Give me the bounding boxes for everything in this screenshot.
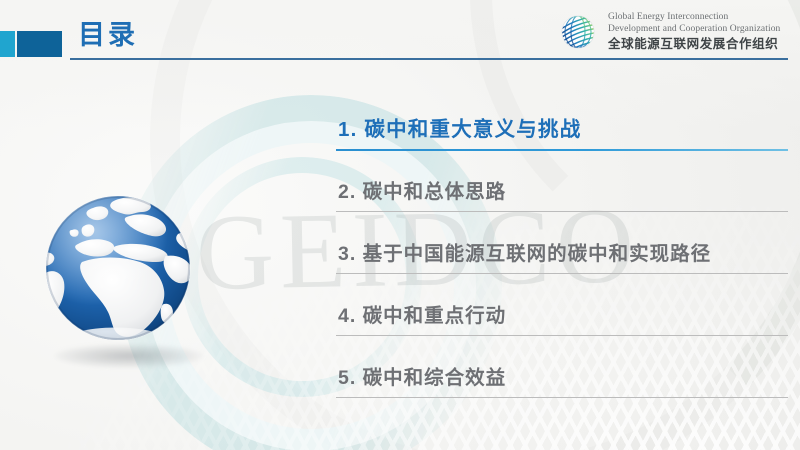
toc-item-4-underline xyxy=(336,335,788,336)
logo-chinese-name: 全球能源互联网发展合作组织 xyxy=(608,37,780,52)
logo-text: Global Energy Interconnection Developmen… xyxy=(608,12,780,51)
toc-item-5-label: 5. 碳中和综合效益 xyxy=(338,361,506,390)
organization-logo: Global Energy Interconnection Developmen… xyxy=(556,9,794,55)
toc-item-1[interactable]: 1. 碳中和重大意义与挑战 xyxy=(336,92,788,154)
logo-english-line-2: Development and Cooperation Organization xyxy=(608,24,780,35)
toc-item-2[interactable]: 2. 碳中和总体思路 xyxy=(336,154,788,216)
toc-item-4-label: 4. 碳中和重点行动 xyxy=(338,299,506,328)
toc-item-3[interactable]: 3. 基于中国能源互联网的碳中和实现路径 xyxy=(336,216,788,278)
geidco-globe-logo-icon xyxy=(556,10,600,54)
toc-item-4[interactable]: 4. 碳中和重点行动 xyxy=(336,278,788,340)
toc-item-3-label: 3. 基于中国能源互联网的碳中和实现路径 xyxy=(338,237,711,266)
toc-item-5[interactable]: 5. 碳中和综合效益 xyxy=(336,340,788,402)
toc-item-1-underline xyxy=(336,149,788,151)
toc-item-5-underline xyxy=(336,397,788,398)
header-accent-block-cyan xyxy=(0,31,15,57)
toc-item-1-label: 1. 碳中和重大意义与挑战 xyxy=(338,112,581,142)
presentation-slide: GEIDCO 目录 xyxy=(0,0,800,450)
toc-item-2-label: 2. 碳中和总体思路 xyxy=(338,175,506,204)
table-of-contents: 1. 碳中和重大意义与挑战 2. 碳中和总体思路 3. 基于中国能源互联网的碳中… xyxy=(336,92,788,402)
globe-3d-illustration xyxy=(38,192,216,382)
globe-illustration xyxy=(38,192,216,382)
logo-english-line-1: Global Energy Interconnection xyxy=(608,12,780,23)
header-divider xyxy=(70,58,788,60)
page-title: 目录 xyxy=(78,22,138,49)
toc-item-2-underline xyxy=(336,211,788,212)
toc-item-3-underline xyxy=(336,273,788,274)
header-accent-block-blue xyxy=(17,31,62,57)
